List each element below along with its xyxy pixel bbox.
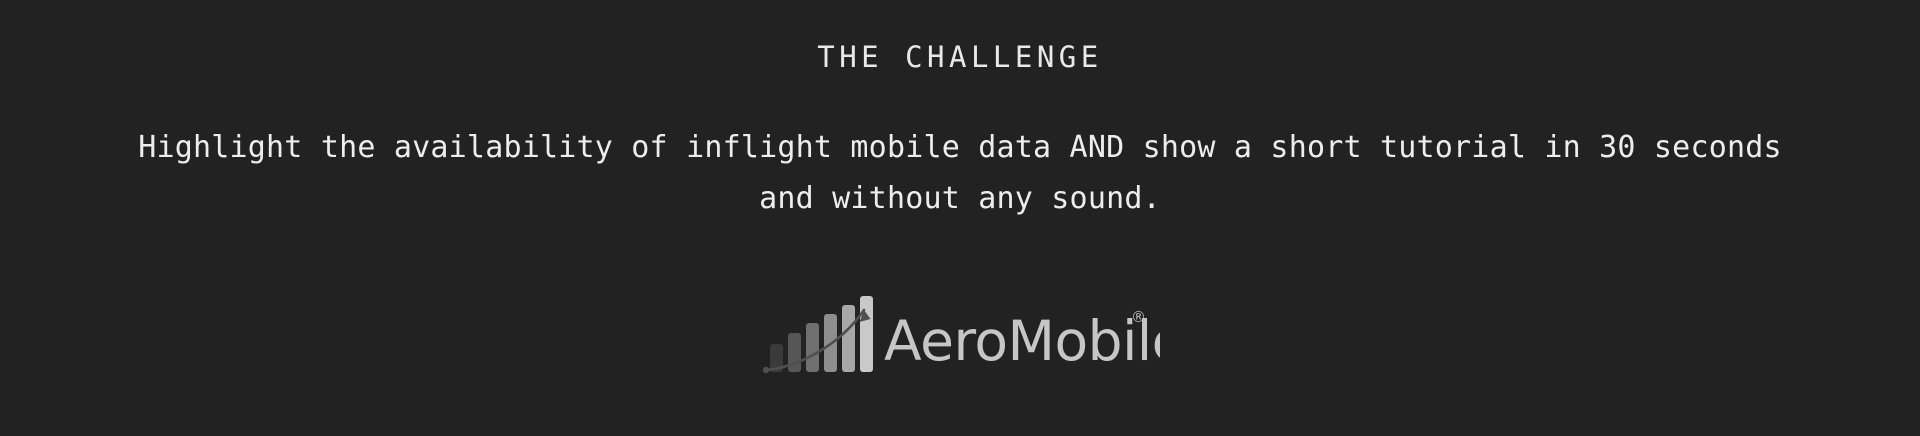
registered-trademark-icon: ® xyxy=(1131,308,1146,326)
description-line-2: and without any sound. xyxy=(20,173,1900,224)
description-line-1: Highlight the availability of inflight m… xyxy=(20,122,1900,173)
aeromobile-logo: AeroMobile ® xyxy=(750,286,1170,382)
challenge-slide: THE CHALLENGE Highlight the availability… xyxy=(0,0,1920,436)
page-title: THE CHALLENGE xyxy=(0,38,1920,76)
challenge-description: Highlight the availability of inflight m… xyxy=(20,122,1900,224)
logo-wordmark: AeroMobile xyxy=(884,309,1160,373)
signal-bars-icon xyxy=(770,296,873,372)
aeromobile-logo-svg: AeroMobile ® xyxy=(760,288,1160,380)
